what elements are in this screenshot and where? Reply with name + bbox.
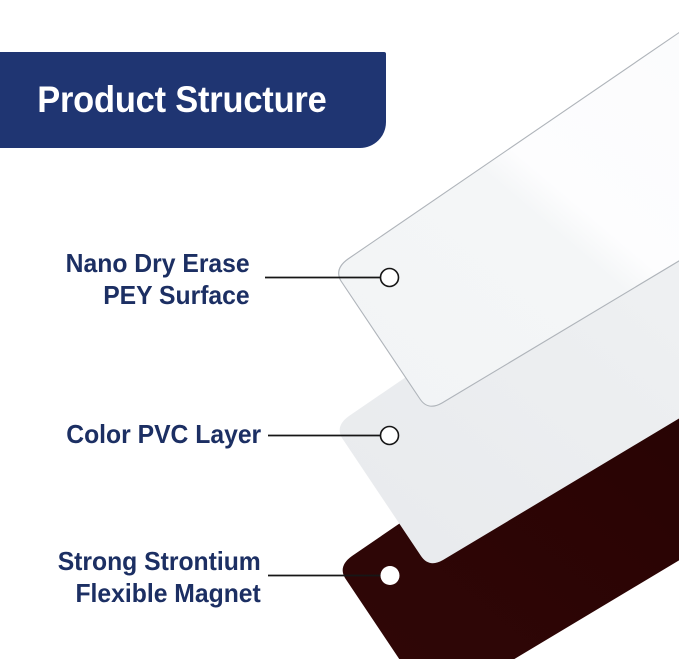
header-banner: Product Structure <box>0 52 386 148</box>
product-structure-diagram: Product Structure Nano Dry Erase PEY Sur… <box>0 0 679 659</box>
callout-label-magnet: Strong Strontium Flexible Magnet <box>58 546 261 610</box>
callout-label-pvc-line-1: Color PVC Layer <box>66 419 261 451</box>
callout-label-pey: Nano Dry Erase PEY Surface <box>66 248 250 312</box>
callout-label-magnet-line-1: Strong Strontium <box>58 546 261 578</box>
page-title: Product Structure <box>0 79 327 121</box>
marker-circle-pvc <box>381 427 399 445</box>
callout-label-pey-line-1: Nano Dry Erase <box>66 248 250 280</box>
callout-label-pey-line-2: PEY Surface <box>66 280 250 312</box>
marker-circle-magnet <box>381 566 400 585</box>
callout-label-magnet-line-2: Flexible Magnet <box>58 578 261 610</box>
callout-label-pvc: Color PVC Layer <box>66 419 261 451</box>
marker-circle-pey <box>381 269 399 287</box>
